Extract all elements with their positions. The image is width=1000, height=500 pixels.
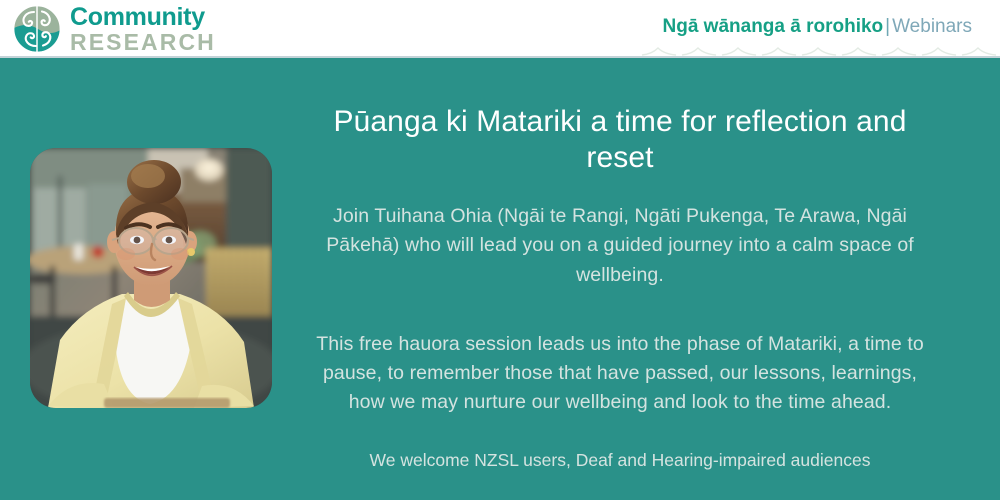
webinar-series-label: Ngā wānanga ā rorohiko|Webinars (663, 16, 973, 38)
series-label-maori: Ngā wānanga ā rorohiko (663, 16, 884, 37)
intro-paragraph: Join Tuihana Ohia (Ngāi te Rangi, Ngāti … (300, 202, 940, 290)
logo-wordmark: Community RESEARCH (70, 5, 216, 54)
community-research-logo[interactable]: Community RESEARCH (12, 4, 216, 54)
presenter-portrait (30, 148, 272, 408)
logo-word-community: Community (70, 5, 216, 30)
logo-word-research: RESEARCH (70, 31, 216, 54)
accessibility-note: We welcome NZSL users, Deaf and Hearing-… (300, 448, 940, 473)
wave-scallop-pattern-icon (640, 42, 1000, 57)
webinar-banner: Community RESEARCH Ngā wānanga ā rorohik… (0, 0, 1000, 500)
koru-circle-icon (12, 4, 62, 54)
description-paragraph: This free hauora session leads us into t… (300, 330, 940, 418)
series-label-separator: | (883, 16, 892, 37)
header-divider (0, 56, 1000, 58)
series-label-english: Webinars (892, 16, 972, 37)
webinar-content: Pūanga ki Matariki a time for reflection… (300, 104, 940, 500)
page-title: Pūanga ki Matariki a time for reflection… (300, 104, 940, 176)
